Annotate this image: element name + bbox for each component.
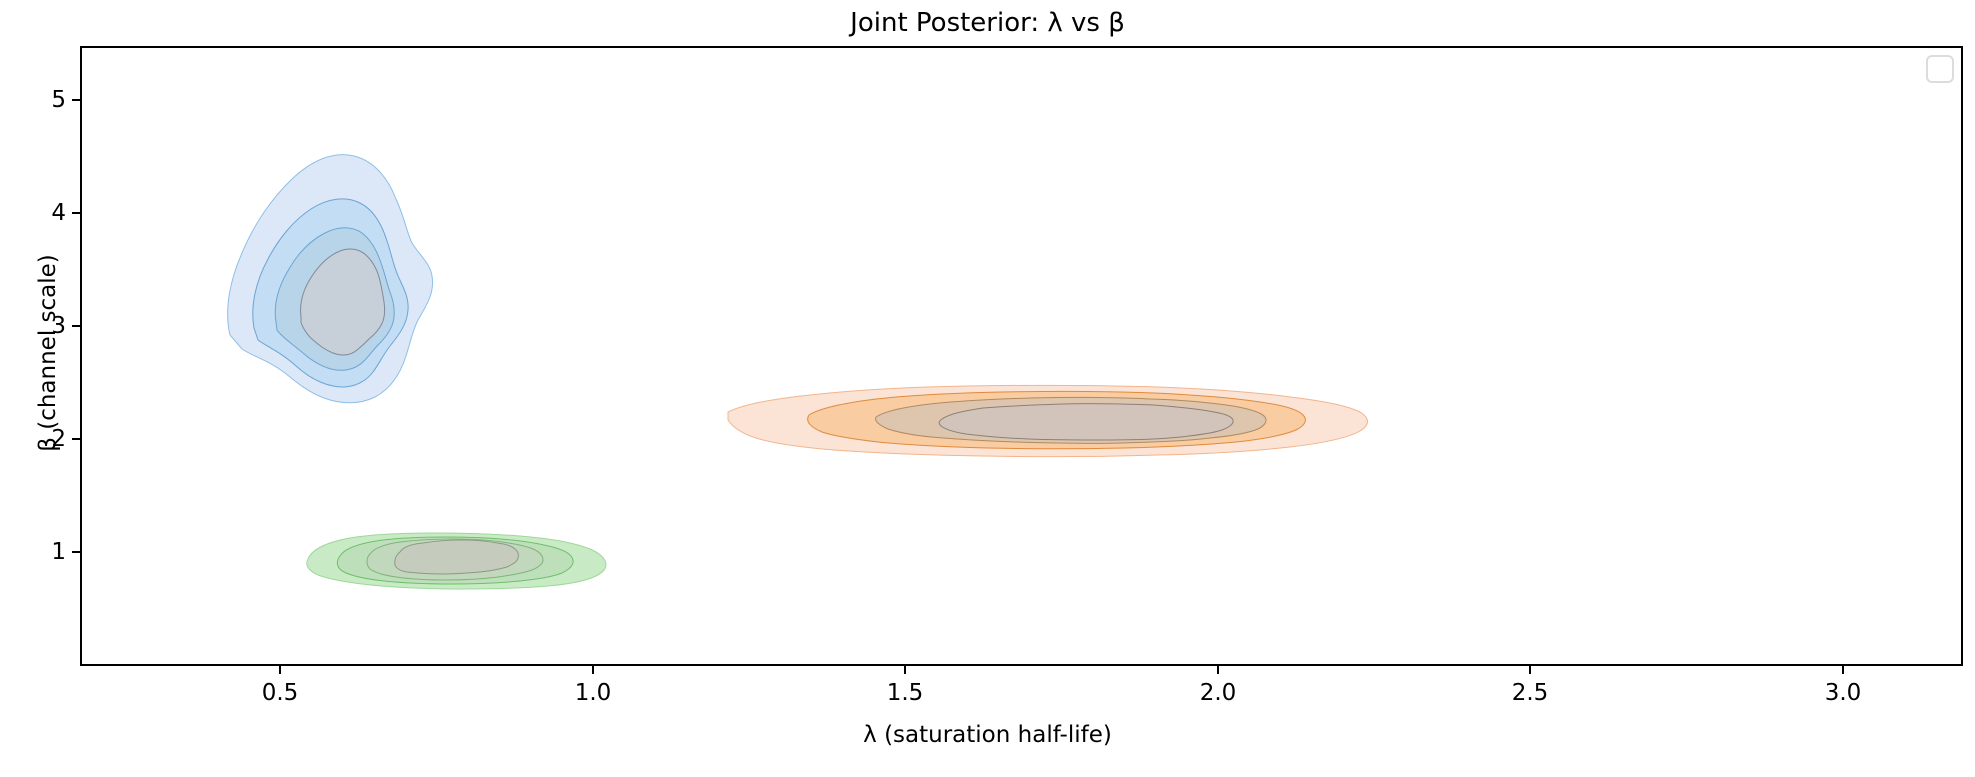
y-tick-mark-4 — [72, 212, 80, 214]
x-tick-mark-3.0 — [1842, 666, 1844, 674]
y-tick-label-3: 3 — [51, 311, 66, 341]
x-tick-label-0.5: 0.5 — [240, 678, 320, 708]
y-tick-mark-3 — [72, 325, 80, 327]
y-tick-label-1: 1 — [51, 537, 66, 567]
y-tick-label-4: 4 — [51, 198, 66, 228]
x-tick-label-2.5: 2.5 — [1490, 678, 1570, 708]
y-tick-mark-1 — [72, 551, 80, 553]
kde-blob-blue — [228, 155, 433, 403]
x-tick-label-1.0: 1.0 — [553, 678, 633, 708]
x-tick-mark-2.0 — [1217, 666, 1219, 674]
x-axis-label: λ (saturation half-life) — [0, 722, 1975, 748]
x-tick-mark-1.0 — [592, 666, 594, 674]
y-axis-label: β (channel scale) — [35, 43, 61, 663]
kde-green-level-4 — [395, 540, 519, 574]
legend-box[interactable] — [1926, 55, 1954, 83]
x-tick-label-2.0: 2.0 — [1178, 678, 1258, 708]
figure-canvas: Joint Posterior: λ vs β β (channel scale… — [0, 0, 1975, 777]
x-tick-mark-0.5 — [279, 666, 281, 674]
y-tick-mark-5 — [72, 99, 80, 101]
x-tick-mark-2.5 — [1529, 666, 1531, 674]
page-title: Joint Posterior: λ vs β — [0, 6, 1975, 40]
kde-blob-orange — [728, 385, 1368, 456]
x-tick-label-1.5: 1.5 — [865, 678, 945, 708]
y-tick-label-2: 2 — [51, 424, 66, 454]
kde-orange-level-4 — [939, 404, 1233, 440]
y-tick-mark-2 — [72, 438, 80, 440]
x-tick-label-3.0: 3.0 — [1803, 678, 1883, 708]
x-tick-mark-1.5 — [904, 666, 906, 674]
kde-blob-green — [307, 533, 606, 589]
y-tick-label-5: 5 — [51, 85, 66, 115]
plot-area — [80, 46, 1963, 666]
kde-contour-layer — [82, 48, 1963, 666]
